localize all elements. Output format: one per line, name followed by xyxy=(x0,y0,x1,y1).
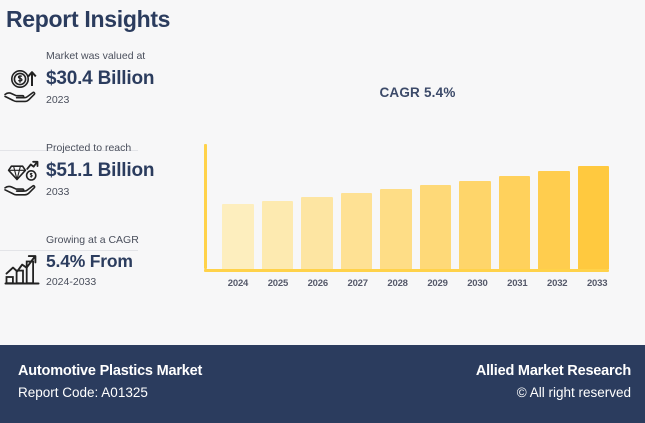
chart-bar xyxy=(420,185,452,269)
chart-x-axis xyxy=(204,269,609,272)
chart-bar xyxy=(262,201,294,269)
insight-body: Market was valued at $30.4 Billion 2023 xyxy=(46,46,154,107)
chart-title: CAGR 5.4% xyxy=(190,85,645,100)
chart-x-tick-labels: 2024202520262027202820292030203120322033 xyxy=(222,278,613,289)
chart-bar-column xyxy=(262,144,294,269)
hand-holding-coin-growth-icon xyxy=(2,64,46,108)
insight-label: Market was valued at xyxy=(46,48,154,65)
chart-bar-column xyxy=(301,144,333,269)
market-forecast-chart: CAGR 5.4% 202420252026202720282029203020… xyxy=(190,40,645,340)
chart-bar xyxy=(380,189,412,269)
insight-label: Growing at a CAGR xyxy=(46,232,139,249)
chart-x-tick-label: 2028 xyxy=(382,278,414,289)
chart-x-tick-label: 2027 xyxy=(342,278,374,289)
chart-x-tick-label: 2025 xyxy=(262,278,294,289)
footer-report-info: Automotive Plastics Market Report Code: … xyxy=(18,361,202,404)
chart-bar-column xyxy=(341,144,373,269)
chart-x-tick-label: 2031 xyxy=(501,278,533,289)
chart-bar-column xyxy=(222,144,254,269)
report-insights-page: Report Insights Market was valued at $3 xyxy=(0,0,645,423)
hand-holding-diamond-growth-icon xyxy=(2,156,46,200)
insight-card-projection: Projected to reach $51.1 Billion 2033 xyxy=(0,132,190,224)
chart-bar-column xyxy=(420,144,452,269)
chart-bar-column xyxy=(578,144,610,269)
footer-report-code: Report Code: A01325 xyxy=(18,383,202,404)
chart-bar xyxy=(301,197,333,269)
footer-company-name: Allied Market Research xyxy=(476,361,631,383)
chart-bar-column xyxy=(538,144,570,269)
insight-value: 5.4% From xyxy=(46,252,139,272)
chart-x-tick-label: 2032 xyxy=(541,278,573,289)
footer-report-name: Automotive Plastics Market xyxy=(18,361,202,383)
chart-x-tick-label: 2030 xyxy=(461,278,493,289)
insight-value: $51.1 Billion xyxy=(46,160,154,181)
footer: Automotive Plastics Market Report Code: … xyxy=(0,345,645,423)
chart-bar xyxy=(538,171,570,269)
footer-company-info: Allied Market Research © All right reser… xyxy=(476,361,631,404)
chart-x-tick-label: 2033 xyxy=(581,278,613,289)
footer-copyright: © All right reserved xyxy=(476,383,631,404)
insights-panel: Market was valued at $30.4 Billion 2023 xyxy=(0,40,190,316)
chart-x-tick-label: 2029 xyxy=(422,278,454,289)
insight-sub: 2033 xyxy=(46,185,154,200)
chart-bar xyxy=(222,204,254,269)
chart-bar xyxy=(341,193,373,269)
page-title: Report Insights xyxy=(6,6,170,33)
insight-card-market-value: Market was valued at $30.4 Billion 2023 xyxy=(0,40,190,132)
chart-bar-column xyxy=(380,144,412,269)
insight-label: Projected to reach xyxy=(46,140,154,157)
bar-chart-growth-arrow-icon xyxy=(2,248,46,292)
chart-bar xyxy=(578,166,610,269)
chart-bar xyxy=(499,176,531,269)
insight-body: Projected to reach $51.1 Billion 2033 xyxy=(46,138,154,199)
chart-bars xyxy=(222,144,609,269)
chart-y-axis xyxy=(204,144,207,269)
chart-bar xyxy=(459,181,491,270)
chart-plot-area xyxy=(204,144,609,269)
insight-body: Growing at a CAGR 5.4% From 2024-2033 xyxy=(46,230,139,290)
insight-value: $30.4 Billion xyxy=(46,68,154,89)
insight-sub: 2024-2033 xyxy=(46,275,139,290)
insight-card-cagr: Growing at a CAGR 5.4% From 2024-2033 xyxy=(0,224,190,316)
chart-x-tick-label: 2024 xyxy=(222,278,254,289)
chart-bar-column xyxy=(499,144,531,269)
insight-sub: 2023 xyxy=(46,93,154,108)
chart-x-tick-label: 2026 xyxy=(302,278,334,289)
chart-bar-column xyxy=(459,144,491,269)
